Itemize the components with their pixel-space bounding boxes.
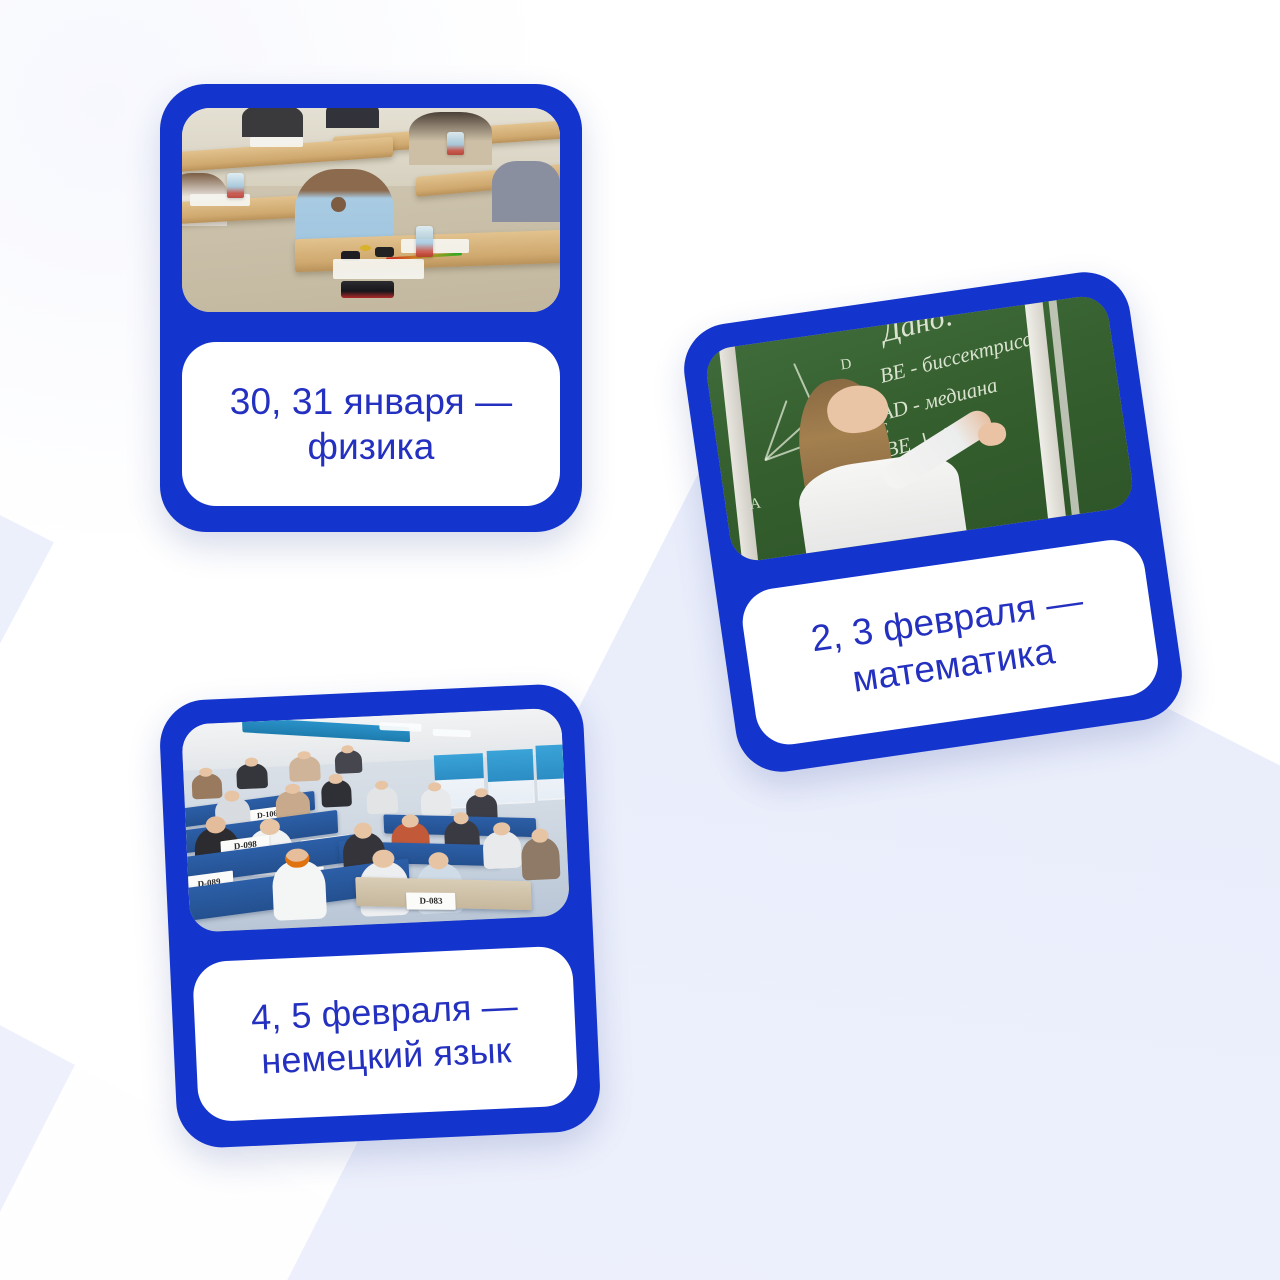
physics-label-box: 30, 31 января — физика xyxy=(182,342,560,506)
lecture-hall-photo: D-106 D-098 D-099 D-089 D-090 xyxy=(181,708,570,933)
math-label-box: 2, 3 февраля — математика xyxy=(738,536,1162,749)
german-label-text: 4, 5 февраля — немецкий язык xyxy=(250,984,520,1084)
physics-label-text: 30, 31 января — физика xyxy=(230,379,512,469)
card-physics[interactable]: 30, 31 января — физика xyxy=(160,84,582,532)
math-chalkboard-photo: A D C Дано: BE - биссектриса AD - медиан… xyxy=(703,293,1136,564)
card-german[interactable]: D-106 D-098 D-099 D-089 D-090 xyxy=(158,683,602,1150)
german-label-box: 4, 5 февраля — немецкий язык xyxy=(192,945,579,1122)
math-label-text: 2, 3 февраля — математика xyxy=(808,578,1092,706)
chalk-vertex-a: A xyxy=(749,495,762,513)
chalk-vertex-d: D xyxy=(840,356,853,374)
card-math[interactable]: A D C Дано: BE - биссектриса AD - медиан… xyxy=(678,266,1188,778)
poster-canvas: 30, 31 января — физика A D C Дано: BE - … xyxy=(0,0,1280,1280)
chalk-line-1: Дано: xyxy=(877,299,957,350)
desk-placard: D-083 xyxy=(406,892,456,909)
physics-classroom-photo xyxy=(182,108,560,312)
